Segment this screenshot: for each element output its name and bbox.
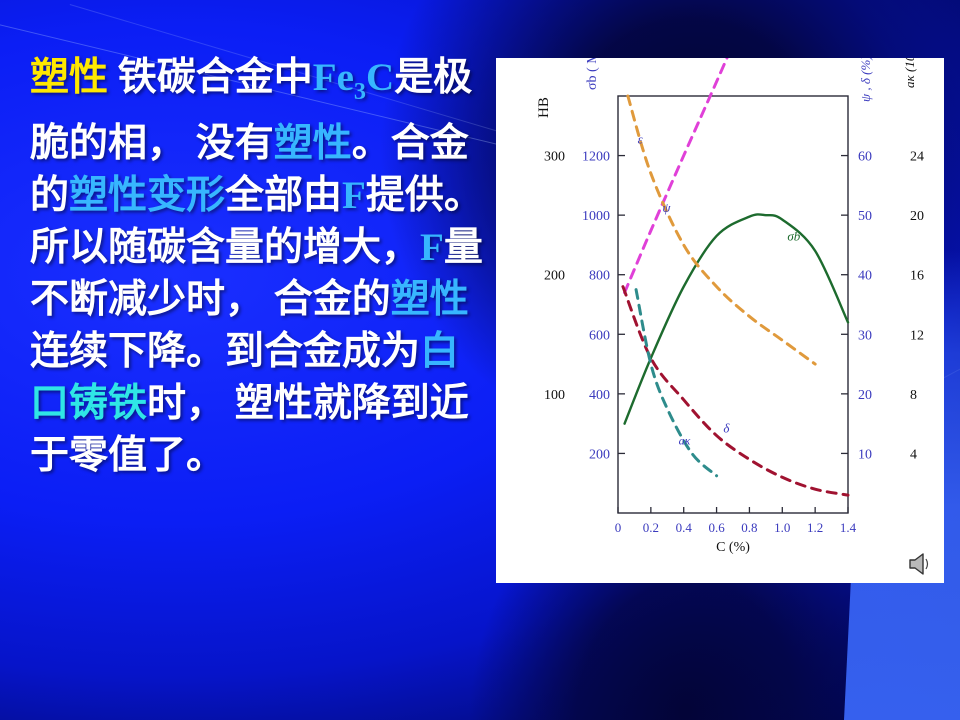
sigma-tick-label: 400 [589,388,610,403]
text-run: 量 [444,226,483,269]
text-run: 不断减少时， 合金的 [30,278,391,321]
psi-axis-label: ψ , δ (%) [858,58,873,102]
text-run: 铁碳合金中 [108,56,313,99]
text-run: 脆的相， 没有 [30,122,274,165]
slide-body-text: 塑性 铁碳合金中Fe3C是极脆的相， 没有塑性。合金的塑性变形全部由F提供。所以… [30,52,500,482]
text-run: F [420,226,444,269]
x-tick-label: 0 [615,520,622,535]
text-run: 提供。 [366,174,483,217]
text-line: 口铸铁时， 塑性就降到近 [30,378,500,430]
sigma-tick-label: 200 [589,447,610,462]
text-run: C [366,56,394,99]
series-annotation: δ [723,421,730,436]
text-line: 于零值了。 [30,430,500,482]
x-tick-label: 0.8 [741,520,757,535]
plot-frame [618,96,848,513]
hb-tick-label: 100 [544,388,565,403]
psi-tick-label: 40 [858,269,872,284]
text-run: 于零值了。 [30,434,225,477]
text-line: 塑性 铁碳合金中Fe3C是极 [30,52,500,118]
x-tick-label: 0.6 [708,520,725,535]
series-annotation: ψ [662,200,671,215]
x-axis-label: C (%) [716,540,750,555]
ak-tick-label: 8 [910,388,917,403]
text-run: 塑性 [274,122,352,165]
sigma-tick-label: 1200 [582,150,610,165]
text-run: 时， 塑性就降到近 [147,382,469,425]
text-line: 所以随碳含量的增大，F量 [30,222,500,274]
text-run: 所以随碳含量的增大， [30,226,420,269]
text-run: 连续下降。到合金成为 [30,330,420,373]
psi-tick-label: 50 [858,209,872,224]
text-line: 脆的相， 没有塑性。合金 [30,118,500,170]
ak-tick-label: 20 [910,209,924,224]
text-run: 塑性 [391,278,469,321]
sigma-tick-label: 1000 [582,209,610,224]
psi-tick-label: 20 [858,388,872,403]
ak-tick-label: 24 [910,150,924,165]
hb-axis-label: HB [536,97,552,118]
text-line: 不断减少时， 合金的塑性 [30,274,500,326]
series-annotation: ε [638,132,644,147]
chart-figure: 00.20.40.60.81.01.21.4C (%)1200100080060… [496,58,944,583]
ak-tick-label: 16 [910,269,924,284]
text-line: 的塑性变形全部由F提供。 [30,170,500,222]
psi-tick-label: 60 [858,150,872,165]
x-tick-label: 1.4 [840,520,857,535]
hb-tick-label: 300 [544,150,565,165]
x-tick-label: 0.4 [676,520,693,535]
text-run: 全部由 [225,174,342,217]
text-line: 连续下降。到合金成为白 [30,326,500,378]
text-run: 塑性 [30,56,108,99]
text-run: 塑性变形 [69,174,225,217]
x-tick-label: 1.0 [774,520,790,535]
ak-tick-label: 12 [910,328,924,343]
ak-axis-label: aκ (10⁵ J/m²) [902,58,917,88]
text-run: Fe [313,56,354,99]
series-annotation: aκ [679,433,691,447]
slide-canvas: 塑性 铁碳合金中Fe3C是极脆的相， 没有塑性。合金的塑性变形全部由F提供。所以… [0,0,960,720]
sigma-axis-label: σb ( MPa ) [585,58,600,90]
ak-tick-label: 4 [910,447,917,462]
psi-tick-label: 10 [858,447,872,462]
text-run: 的 [30,174,69,217]
x-tick-label: 1.2 [807,520,823,535]
text-run: 口铸铁 [30,382,147,425]
speaker-icon[interactable] [906,551,936,577]
x-tick-label: 0.2 [643,520,659,535]
hb-tick-label: 200 [544,269,565,284]
chart-panel: 00.20.40.60.81.01.21.4C (%)1200100080060… [496,58,944,583]
text-run: 。合金 [352,122,469,165]
text-run: F [342,174,366,217]
series-annotation: σb [787,228,800,243]
text-run: 是极 [394,56,472,99]
chart-svg: 00.20.40.60.81.01.21.4C (%)1200100080060… [496,58,944,583]
psi-tick-label: 30 [858,328,872,343]
text-run: 3 [354,78,366,105]
sigma-tick-label: 800 [589,269,610,284]
text-run: 白 [420,330,459,373]
sigma-tick-label: 600 [589,328,610,343]
